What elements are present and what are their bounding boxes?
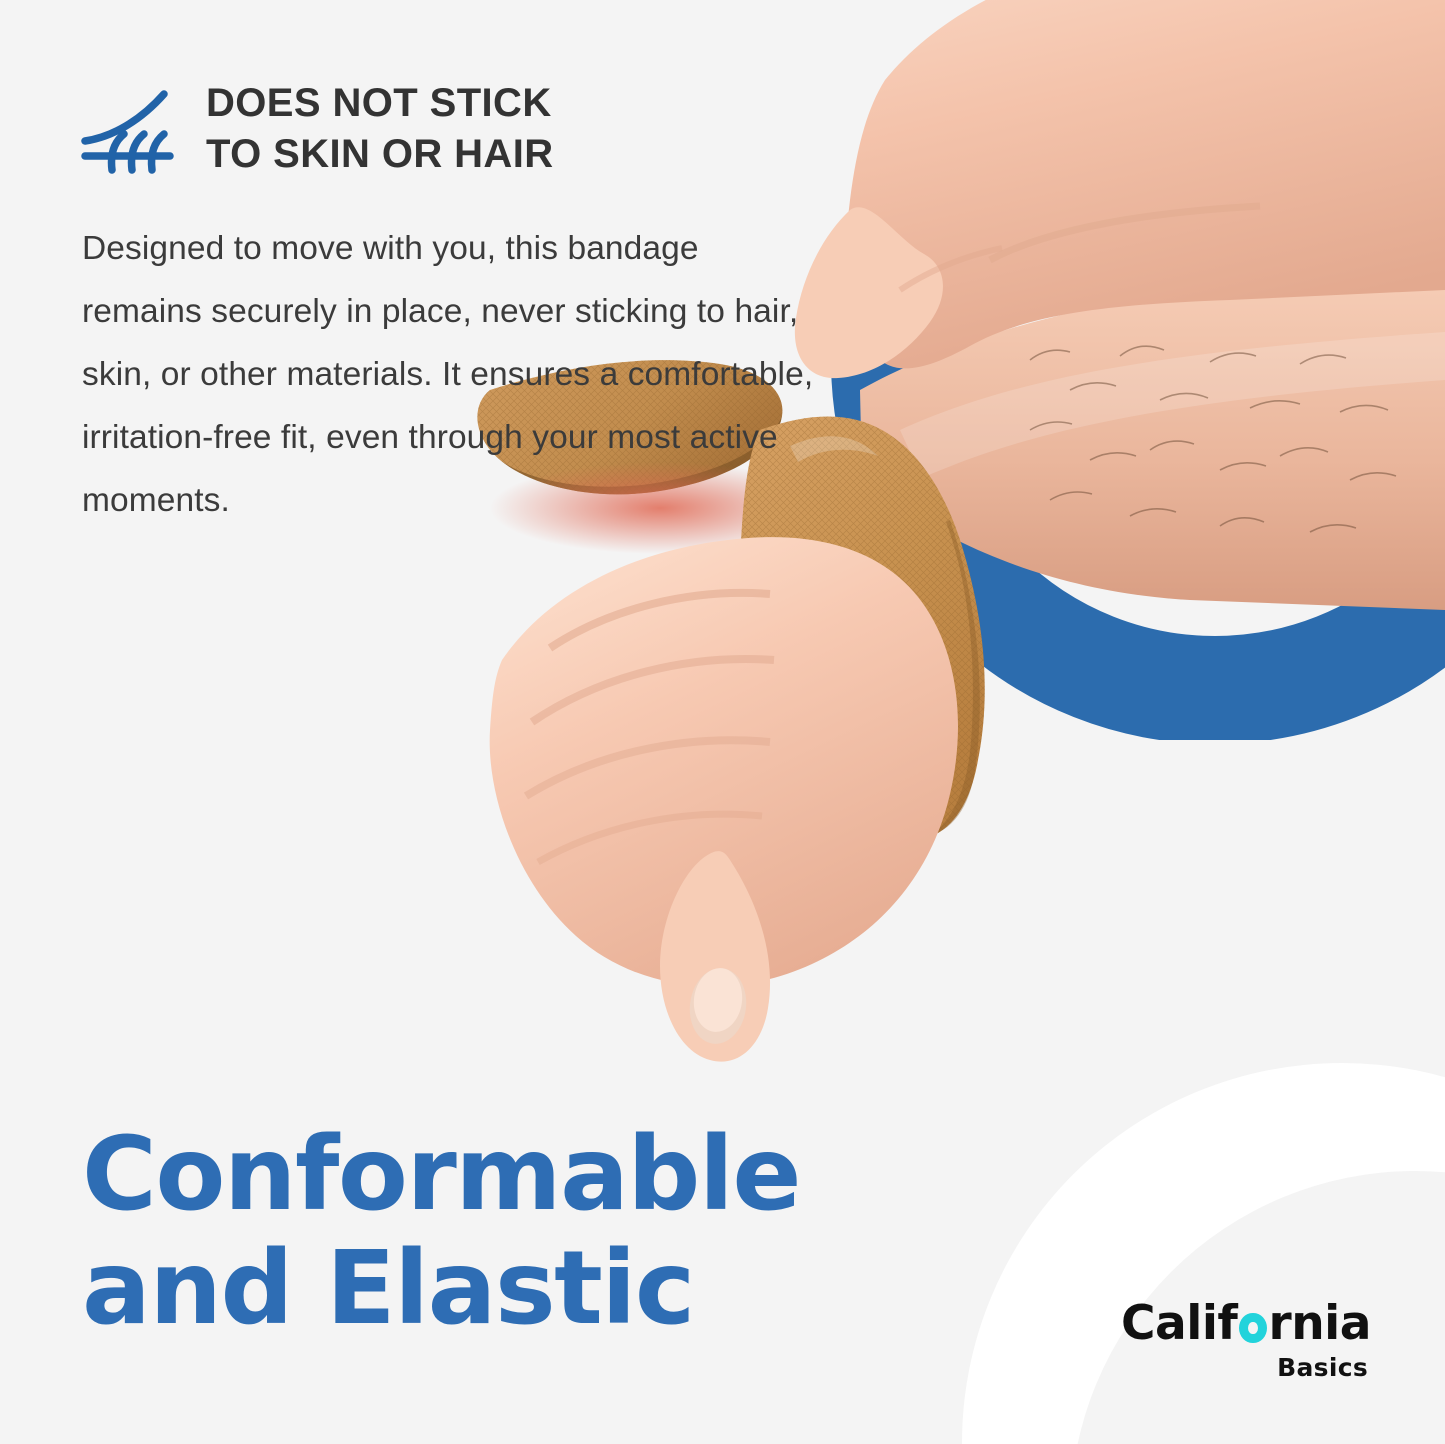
- brand-name-part-2: rnia: [1269, 1300, 1371, 1347]
- brand-logo-wordmark: Calif rnia: [1121, 1300, 1371, 1347]
- brand-name-part-1: Calif: [1121, 1300, 1237, 1347]
- feature-title: DOES NOT STICK TO SKIN OR HAIR: [206, 78, 554, 180]
- main-headline: Conformable and Elastic: [82, 1118, 800, 1346]
- feature-callout: DOES NOT STICK TO SKIN OR HAIR Designed …: [78, 78, 818, 533]
- brand-accent-o-icon: [1239, 1313, 1266, 1343]
- product-feature-image: DOES NOT STICK TO SKIN OR HAIR Designed …: [0, 0, 1445, 1444]
- feature-heading-row: DOES NOT STICK TO SKIN OR HAIR: [78, 78, 818, 180]
- brand-logo: Calif rnia Basics: [1121, 1300, 1371, 1382]
- brand-logo-subtitle: Basics: [1121, 1353, 1371, 1382]
- feature-description: Designed to move with you, this bandage …: [82, 218, 818, 533]
- no-stick-to-hair-icon: [78, 84, 182, 176]
